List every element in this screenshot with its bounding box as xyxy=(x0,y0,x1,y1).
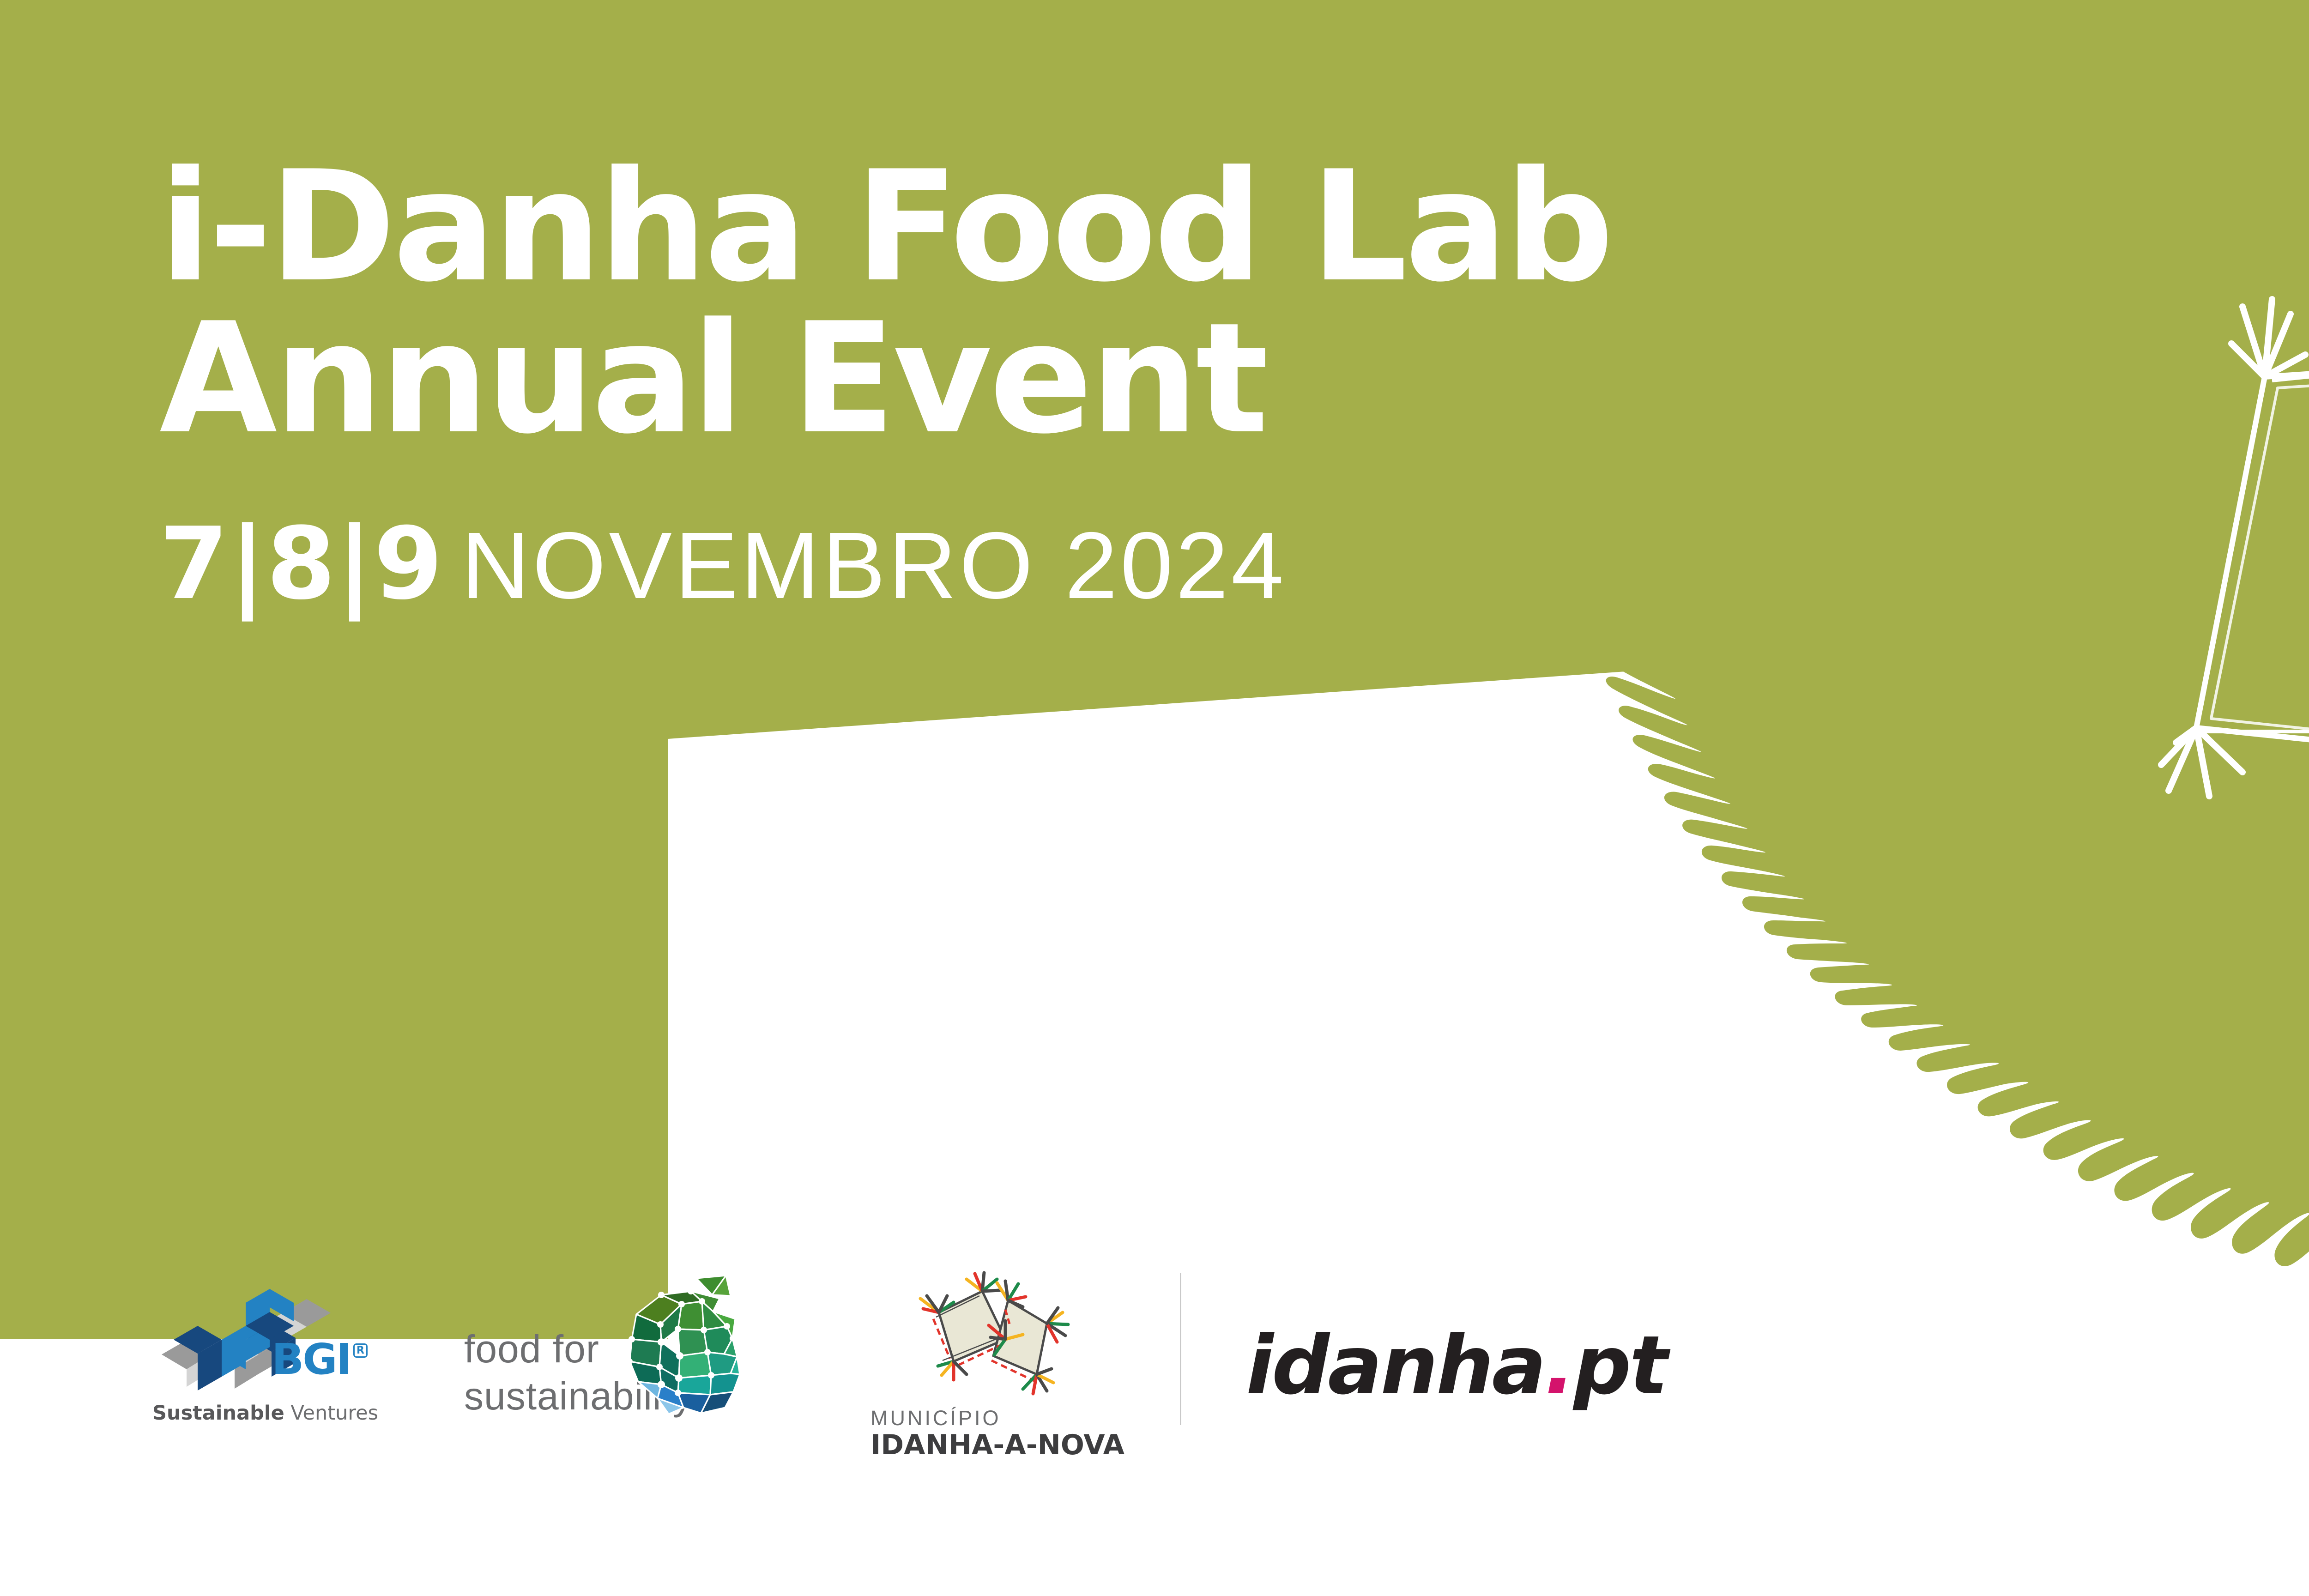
bgi-tagline-bold: Sustainable xyxy=(152,1402,284,1425)
logo-idanha-pt[interactable]: idanha.pt xyxy=(1246,1325,1666,1406)
event-dateline: 7|8|9 NOVEMBRO 2024 xyxy=(159,514,2284,613)
logo-municipio-idanha-a-nova[interactable]: MUNICÍPIO IDANHA-A-NOVA xyxy=(866,1270,1124,1461)
idanha-pt-name: idanha xyxy=(1246,1319,1545,1413)
bgi-tagline-regular: Ventures xyxy=(284,1402,378,1425)
idanha-pt-dot: . xyxy=(1545,1319,1573,1413)
municipio-wordmark: MUNICÍPIO IDANHA-A-NOVA xyxy=(866,1407,1124,1461)
registered-trademark-icon: R xyxy=(353,1343,368,1358)
municipio-label: MUNICÍPIO xyxy=(870,1407,1124,1430)
low-poly-apple-icon xyxy=(610,1275,743,1418)
page-title-line-2: Annual Event xyxy=(159,304,2284,453)
bgi-tagline: Sustainable Ventures xyxy=(152,1402,369,1425)
vertical-divider xyxy=(1180,1273,1181,1425)
idanha-kite-icon xyxy=(884,1270,1097,1409)
footer-logo-strip: BGI R Sustainable Ventures food for sust… xyxy=(0,1256,2309,1596)
event-date-numbers: 7|8|9 xyxy=(159,514,444,613)
idanha-pt-tld: pt xyxy=(1573,1319,1666,1413)
idanha-a-nova-label: IDANHA-A-NOVA xyxy=(870,1430,1124,1461)
event-month-year: NOVEMBRO 2024 xyxy=(461,518,1287,613)
headline-block: i-Danha Food Lab Annual Event 7|8|9 NOVE… xyxy=(159,152,2284,613)
bgi-letters: BGI xyxy=(272,1342,351,1377)
page-title-line-1: i-Danha Food Lab xyxy=(159,152,2284,302)
logo-food-for-sustainability[interactable]: food for sustainability xyxy=(464,1275,755,1432)
bgi-wordmark: BGI R xyxy=(272,1342,368,1377)
poster-canvas: i-Danha Food Lab Annual Event 7|8|9 NOVE… xyxy=(0,0,2309,1596)
logo-bgi[interactable]: BGI R Sustainable Ventures xyxy=(152,1282,369,1425)
